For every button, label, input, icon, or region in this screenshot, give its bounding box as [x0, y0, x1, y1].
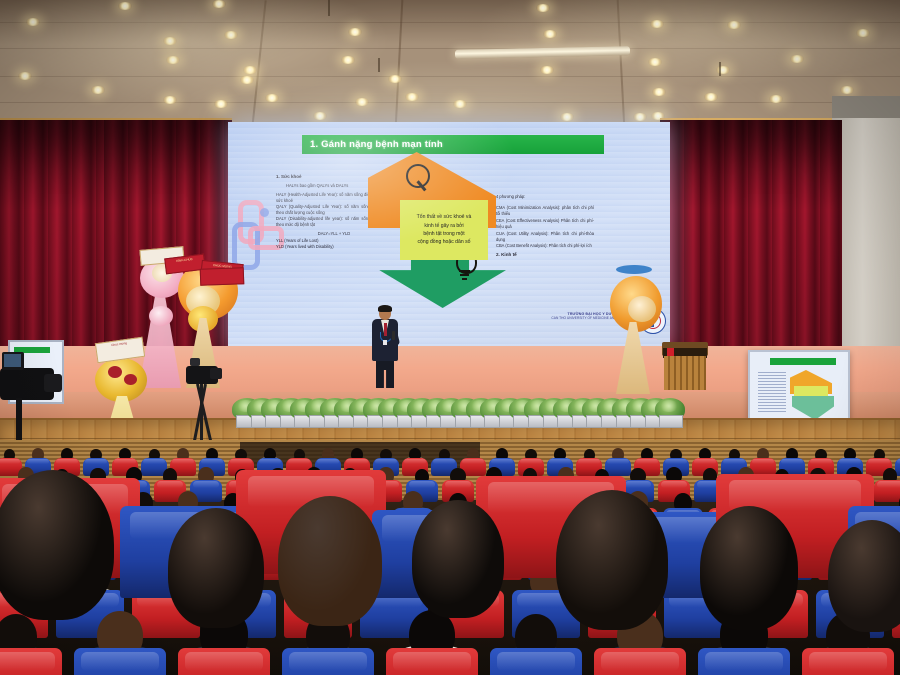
auditorium-seat — [282, 648, 374, 675]
auditorium-seat — [874, 480, 900, 502]
ceiling-downlight — [224, 31, 238, 39]
ceiling-downlight — [26, 18, 40, 26]
ceiling-downlight — [840, 86, 854, 94]
ceiling-downlight — [648, 58, 662, 66]
flower-bouquet-yellow — [95, 358, 147, 402]
ceiling-downlight — [243, 66, 257, 74]
auditorium-seat — [0, 648, 62, 675]
ceiling-hanger — [328, 0, 330, 16]
ceiling-downlight — [727, 21, 741, 29]
wooden-podium — [664, 356, 706, 390]
ceiling-downlight — [214, 100, 228, 108]
flower-red-accent — [124, 374, 137, 385]
banner-text: KÍNH CHÚC — [176, 257, 193, 263]
audience-head-foreground — [168, 508, 264, 628]
ceiling-downlight — [769, 95, 783, 103]
auditorium-seat — [802, 648, 894, 675]
ceiling-downlight — [790, 55, 804, 63]
ceiling-downlight — [163, 96, 177, 104]
auditorium-seat — [74, 648, 166, 675]
auditorium-seat — [594, 648, 686, 675]
ceiling-downlight — [704, 93, 718, 101]
handheld-microphone — [392, 331, 395, 340]
auditorium-seat — [605, 458, 631, 476]
ceiling-downlight — [212, 0, 226, 8]
ceiling-downlight — [240, 76, 254, 84]
ceiling-downlight — [652, 88, 666, 96]
auditorium-seat — [386, 648, 478, 675]
ceiling-downlight — [388, 75, 402, 83]
flower-cluster — [149, 306, 173, 326]
presenter-legs — [376, 359, 394, 388]
ceiling-downlight — [265, 94, 279, 102]
auditorium-seat — [490, 648, 582, 675]
ceiling-downlight — [650, 20, 664, 28]
ceiling-downlight — [118, 2, 132, 10]
ceiling-downlight — [543, 30, 557, 38]
flower-cluster — [628, 296, 656, 322]
ceiling-downlight — [313, 112, 327, 120]
planter-pot — [659, 415, 683, 428]
audience-head-foreground — [556, 490, 668, 630]
ceiling-downlight — [163, 37, 177, 45]
podium-emblem — [667, 348, 674, 356]
audience-head-foreground — [278, 496, 382, 626]
ceiling-downlight — [453, 100, 467, 108]
apron-groove — [0, 438, 900, 439]
ceiling-hanger — [719, 62, 721, 76]
ceiling-downlight — [856, 29, 870, 37]
ceiling-downlight — [341, 56, 355, 64]
ceiling-downlight — [18, 72, 32, 80]
decoration-ribbon — [616, 265, 652, 274]
auditorium-seat — [178, 648, 270, 675]
ceiling-hanger — [378, 58, 380, 72]
auditorium-photo: 1. Gánh nặng bệnh mạn tính 1. Sức khoẻ H… — [0, 0, 900, 675]
planter-box — [655, 398, 685, 428]
ceiling-downlight — [348, 28, 362, 36]
ceiling-downlight — [355, 98, 369, 106]
ceiling-downlight — [536, 4, 550, 12]
banner-text: Chúc mừng — [111, 341, 127, 347]
screen-glare — [228, 122, 670, 350]
presenter-badge — [383, 340, 387, 345]
presenter-hair — [378, 305, 392, 312]
flower-red-accent — [108, 366, 122, 378]
projection-screen: 1. Gánh nặng bệnh mạn tính 1. Sức khoẻ H… — [228, 122, 670, 350]
ceiling-downlight — [166, 56, 180, 64]
ceiling-downlight — [560, 113, 574, 121]
audience-head-foreground — [700, 506, 798, 630]
ceiling-downlight — [91, 86, 105, 94]
ceiling-downlight — [540, 66, 554, 74]
ceiling-downlight — [405, 93, 419, 101]
ceiling-downlight — [633, 113, 647, 121]
audience-head-foreground — [412, 500, 504, 618]
ceiling-light-wash — [0, 0, 900, 128]
auditorium-seat — [698, 648, 790, 675]
presenter-speaking — [368, 306, 402, 388]
audience-head-foreground — [0, 470, 114, 620]
congratulation-banner — [200, 267, 245, 286]
audience-area — [0, 440, 900, 675]
